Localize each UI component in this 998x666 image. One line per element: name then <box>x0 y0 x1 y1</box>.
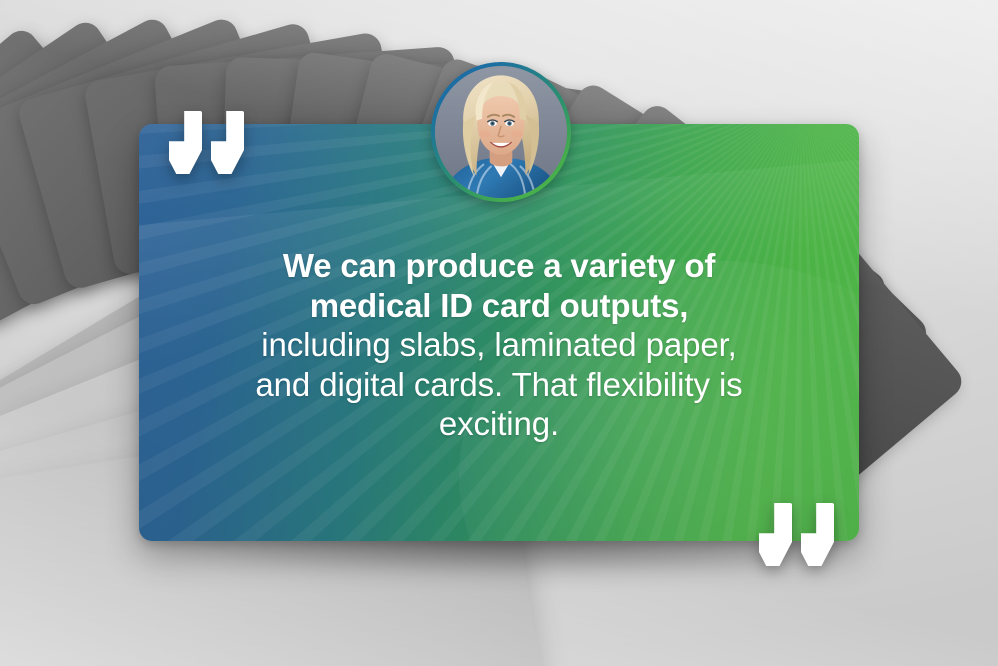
quote-line-2: medical ID card outputs, <box>197 286 801 326</box>
open-quote-icon <box>169 111 244 174</box>
avatar-ring <box>431 62 571 202</box>
quote-line-1: We can produce a variety of <box>197 246 801 286</box>
close-quote-glyph-right <box>801 503 834 566</box>
quote-line-4: and digital cards. That flexibility is <box>197 365 801 405</box>
quote-line-3: including slabs, laminated paper, <box>197 325 801 365</box>
quote-text: We can produce a variety of medical ID c… <box>139 246 859 444</box>
close-quote-icon <box>759 503 834 566</box>
close-quote-glyph-left <box>759 503 792 566</box>
quote-line-5: exciting. <box>197 404 801 444</box>
avatar <box>435 66 567 198</box>
avatar-portrait-icon <box>435 66 567 198</box>
testimonial-graphic: We can produce a variety of medical ID c… <box>0 0 998 666</box>
open-quote-glyph-right <box>211 111 244 174</box>
open-quote-glyph-left <box>169 111 202 174</box>
